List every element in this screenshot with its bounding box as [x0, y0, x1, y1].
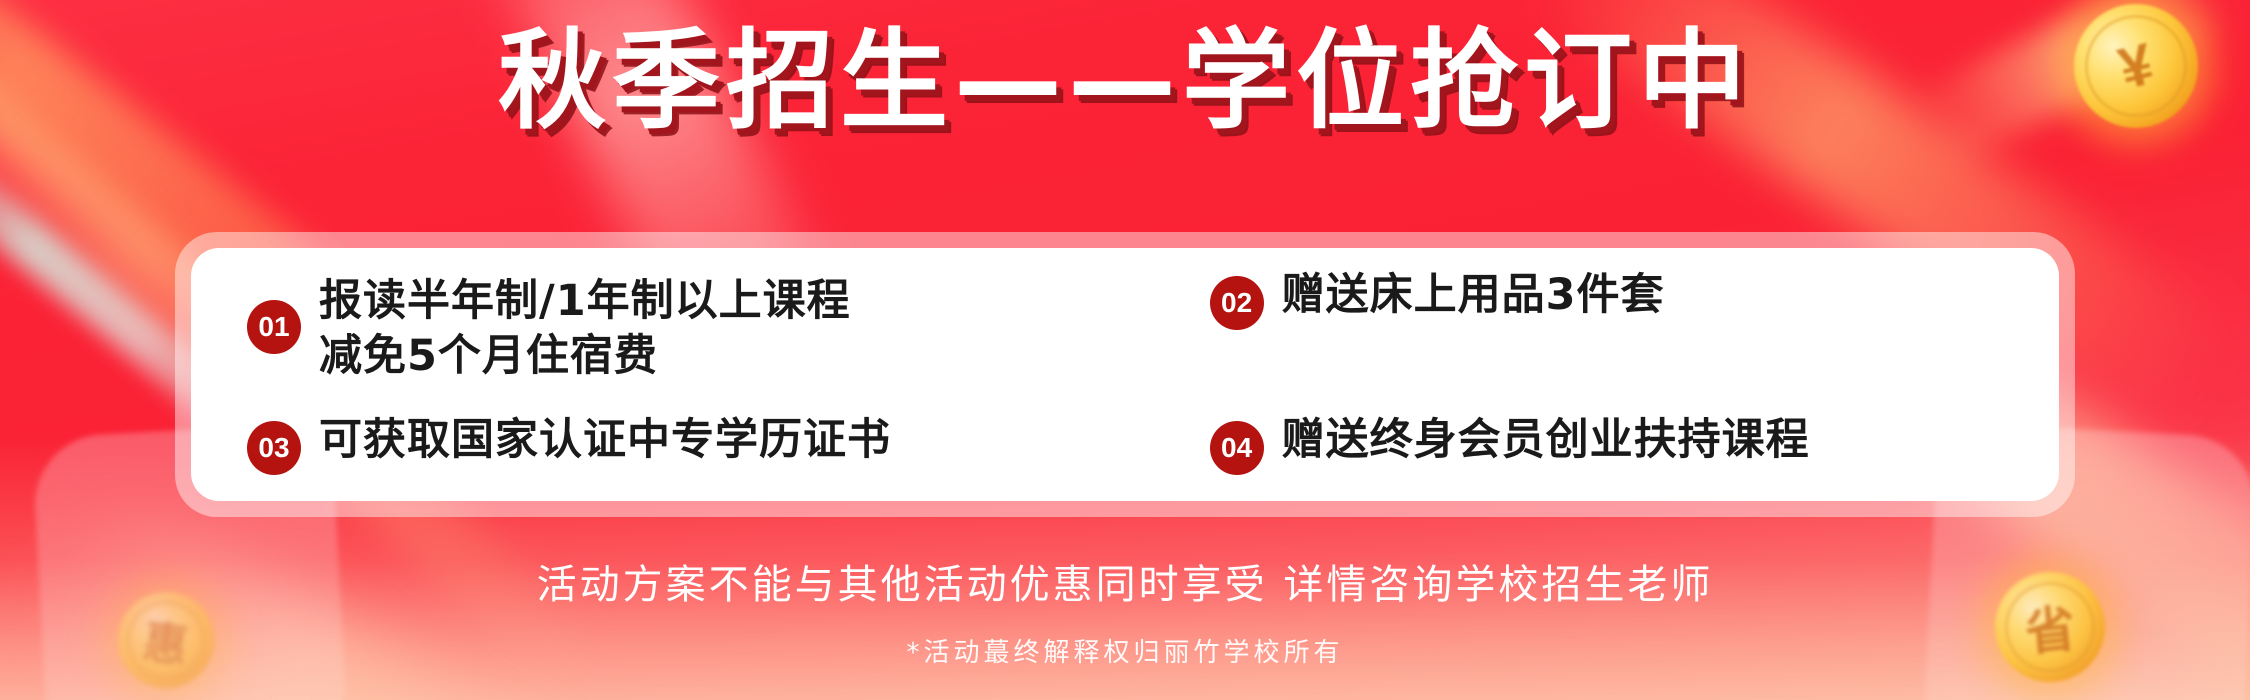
offer-item-02: 02 赠送床上用品3件套 [1210, 274, 2015, 330]
offers-row-top: 01 报读半年制/1年制以上课程 减免5个月住宿费 02 赠送床上用品3件套 [247, 274, 2015, 384]
offers-row-bottom: 03 可获取国家认证中专学历证书 04 赠送终身会员创业扶持课程 [247, 419, 2015, 475]
offer-text: 可获取国家认证中专学历证书 [319, 413, 891, 468]
disclaimer-note: *活动蕞终解释权归丽竹学校所有 [0, 632, 2250, 669]
offer-number-badge: 04 [1210, 421, 1264, 475]
terms-note: 活动方案不能与其他活动优惠同时享受 详情咨询学校招生老师 [0, 552, 2250, 610]
offer-text: 报读半年制/1年制以上课程 减免5个月住宿费 [319, 274, 851, 384]
offer-number-badge: 02 [1210, 276, 1264, 330]
offer-number-badge: 03 [247, 421, 301, 475]
offer-text: 赠送终身会员创业扶持课程 [1282, 413, 1810, 468]
page-title: 秋季招生——学位抢订中 [0, 22, 2250, 143]
offer-item-03: 03 可获取国家认证中专学历证书 [247, 419, 1210, 475]
offers-card: 01 报读半年制/1年制以上课程 减免5个月住宿费 02 赠送床上用品3件套 0… [175, 232, 2075, 517]
offer-item-01: 01 报读半年制/1年制以上课程 减免5个月住宿费 [247, 274, 1210, 384]
offer-item-04: 04 赠送终身会员创业扶持课程 [1210, 419, 2015, 475]
offer-line-2: 减免5个月住宿费 [319, 329, 851, 384]
offers-card-inner: 01 报读半年制/1年制以上课程 减免5个月住宿费 02 赠送床上用品3件套 0… [191, 248, 2059, 501]
offer-number-badge: 01 [247, 300, 301, 354]
offer-line-1: 赠送床上用品3件套 [1282, 270, 1665, 320]
offer-line-1: 赠送终身会员创业扶持课程 [1282, 415, 1810, 465]
offer-text: 赠送床上用品3件套 [1282, 268, 1665, 323]
offer-line-1: 报读半年制/1年制以上课程 [319, 276, 851, 326]
offer-line-1: 可获取国家认证中专学历证书 [319, 415, 891, 465]
promo-banner: ¥ 惠 省 秋季招生——学位抢订中 01 报读半年制/1年制以上课程 减免5个月… [0, 0, 2250, 700]
